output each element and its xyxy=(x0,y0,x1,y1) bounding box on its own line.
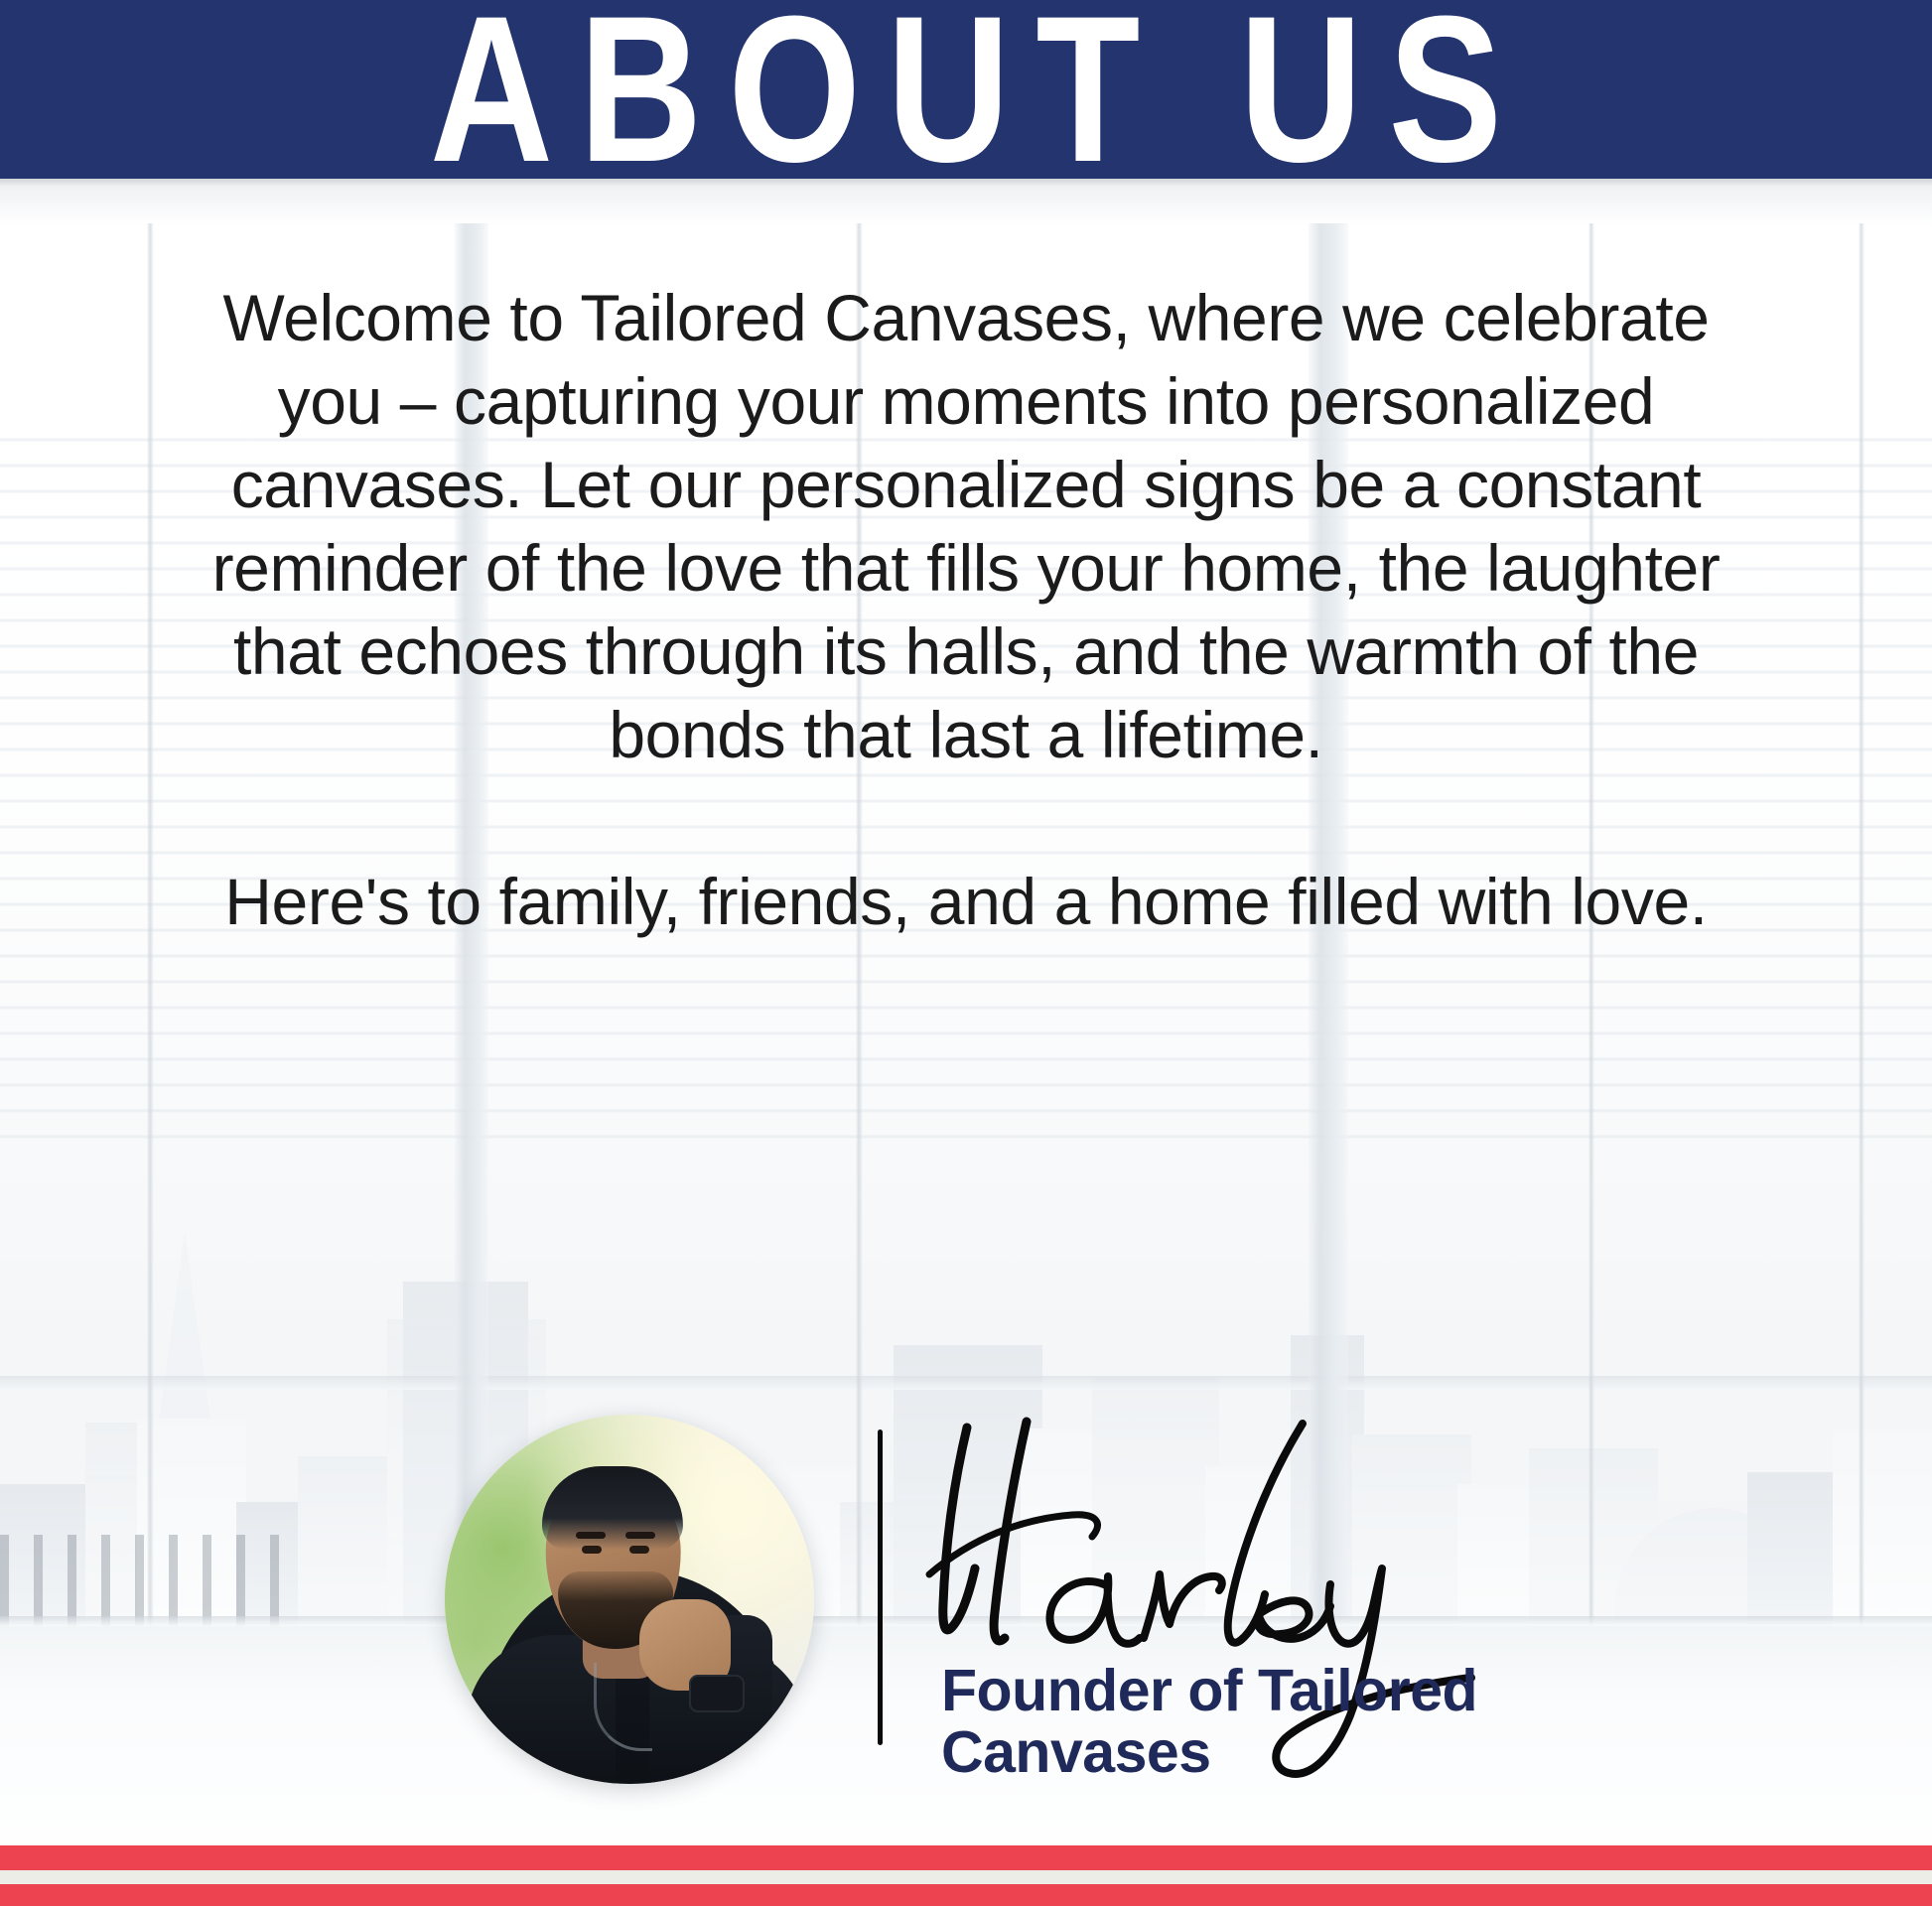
window-mullion xyxy=(147,223,154,1633)
photo-eyebrow-left xyxy=(576,1532,606,1539)
founder-title-line-1: Founder of Tailored xyxy=(941,1660,1577,1721)
founder-title-line-2: Canvases xyxy=(941,1721,1577,1783)
photo-wristwatch xyxy=(689,1675,745,1712)
photo-eyebrow-right xyxy=(625,1532,655,1539)
bottom-stripe-lower xyxy=(0,1884,1932,1906)
window-transom xyxy=(0,1376,1932,1390)
about-us-copy: Welcome to Tailored Canvases, where we c… xyxy=(194,276,1738,943)
photo-eye-left xyxy=(582,1546,602,1554)
header-banner: ABOUT US xyxy=(0,0,1932,179)
bottom-stripe-upper xyxy=(0,1845,1932,1870)
banner-drop-shadow xyxy=(0,179,1932,226)
page-title: ABOUT US xyxy=(404,0,1528,194)
vertical-divider xyxy=(878,1429,883,1745)
paragraph-1: Welcome to Tailored Canvases, where we c… xyxy=(194,276,1738,776)
paragraph-spacer xyxy=(194,776,1738,860)
about-us-poster: ABOUT US Welcome to Tailored Canvases, w… xyxy=(0,0,1932,1906)
photo-eye-right xyxy=(629,1546,649,1554)
paragraph-2: Here's to family, friends, and a home fi… xyxy=(194,860,1738,943)
founder-title: Founder of Tailored Canvases xyxy=(941,1660,1577,1783)
photo-hair xyxy=(542,1466,683,1550)
window-mullion xyxy=(1859,223,1864,1633)
bottom-stripe-gap xyxy=(0,1870,1932,1884)
balcony-railing xyxy=(0,1535,298,1626)
avatar xyxy=(445,1415,814,1784)
founder-photo xyxy=(445,1415,814,1784)
